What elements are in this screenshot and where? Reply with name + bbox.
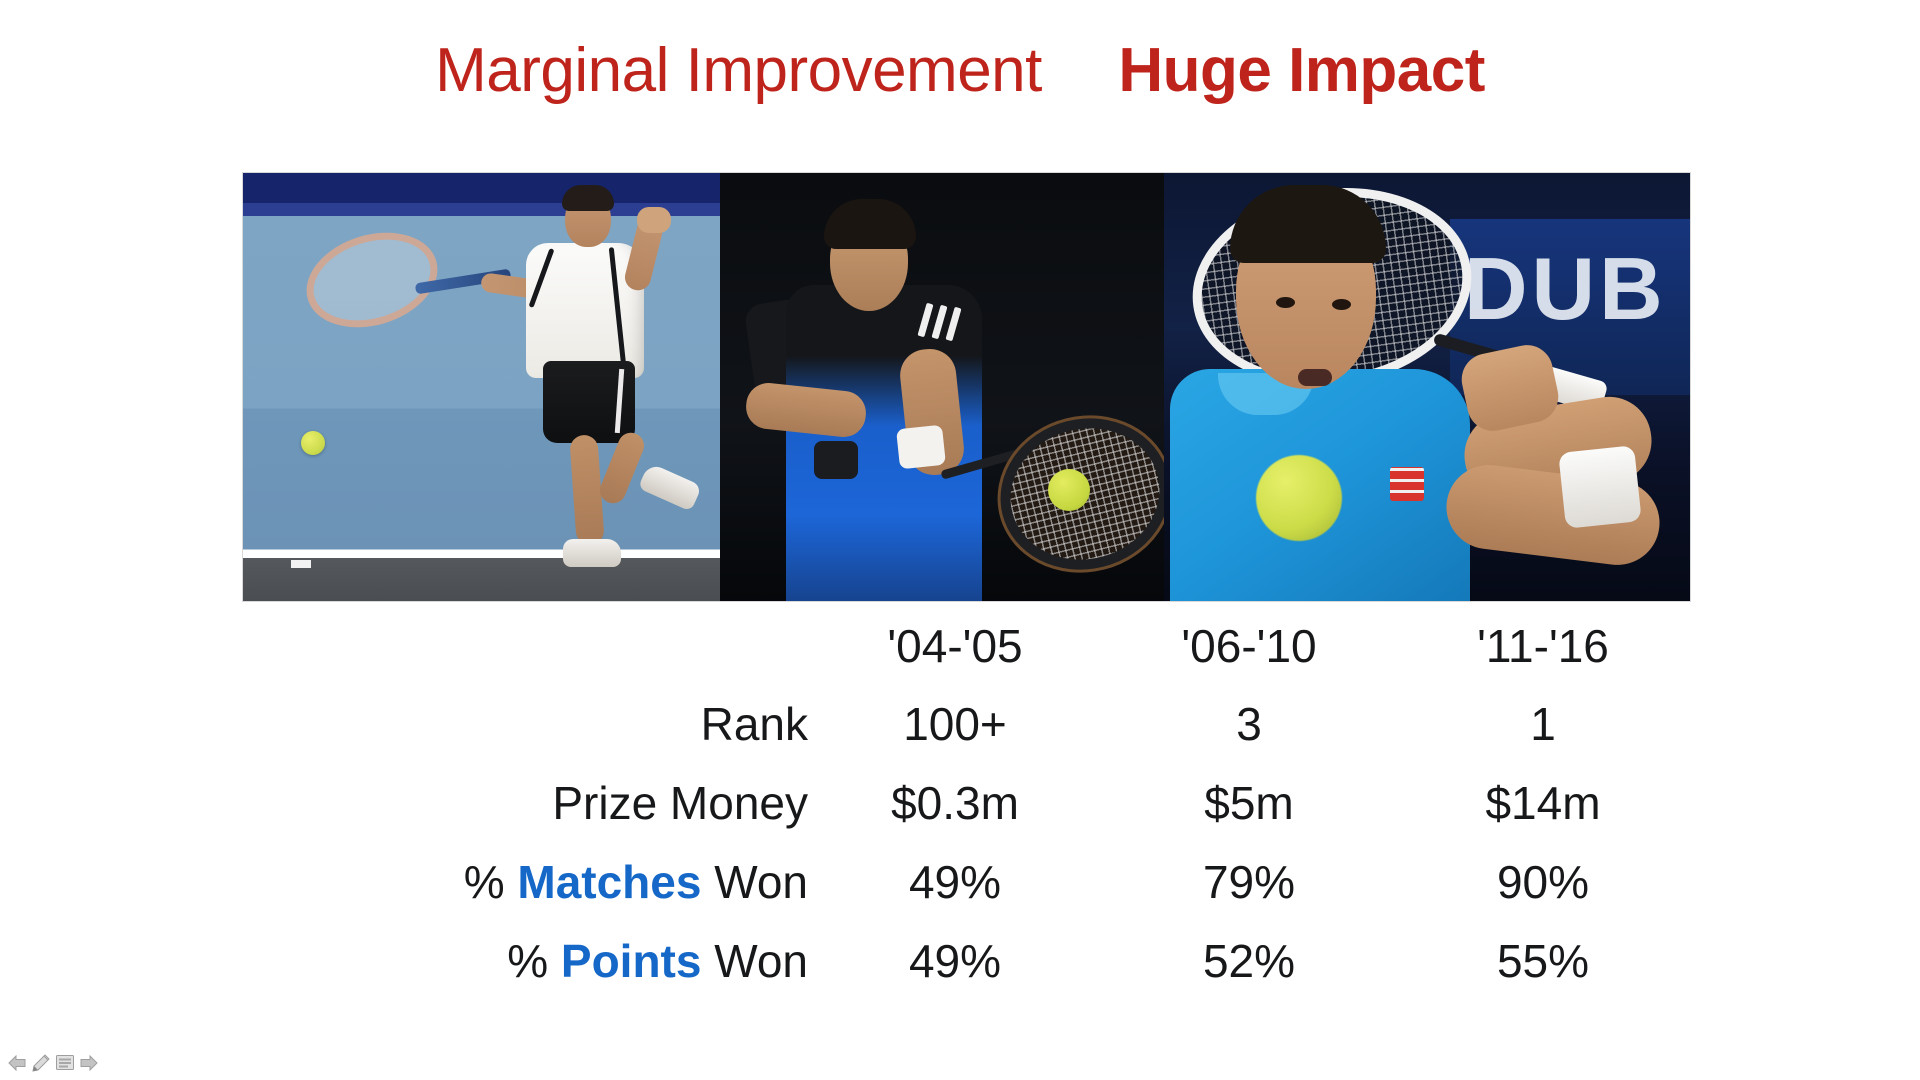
cell-rank-era2: 3 bbox=[1102, 684, 1396, 763]
row-label-suffix: Won bbox=[701, 856, 808, 908]
menu-icon[interactable] bbox=[54, 1052, 76, 1073]
row-label-points-won: % Points Won bbox=[243, 921, 808, 1000]
title-marginal-improvement: Marginal Improvement bbox=[435, 38, 1042, 103]
photo-peak-career: DUB bbox=[1164, 173, 1690, 601]
cell-matches-era1: 49% bbox=[808, 842, 1102, 921]
photo-early-career bbox=[243, 173, 720, 601]
header-era-3: '11-'16 bbox=[1396, 608, 1690, 684]
row-label-prize-money: Prize Money bbox=[243, 763, 808, 842]
player-right-wristband bbox=[896, 425, 946, 470]
banner-text: DUB bbox=[1464, 245, 1667, 333]
sponsor-logo bbox=[1390, 467, 1424, 501]
cell-points-era2: 52% bbox=[1102, 921, 1396, 1000]
player-eye-left bbox=[1276, 297, 1295, 308]
tennis-ball-icon bbox=[1048, 469, 1090, 511]
tennis-ball-icon bbox=[301, 431, 325, 455]
row-label-prefix: % bbox=[464, 856, 518, 908]
player-hair bbox=[562, 185, 614, 211]
cell-points-era1: 49% bbox=[808, 921, 1102, 1000]
header-era-2: '06-'10 bbox=[1102, 608, 1396, 684]
header-era-1: '04-'05 bbox=[808, 608, 1102, 684]
cell-rank-era3: 1 bbox=[1396, 684, 1690, 763]
previous-arrow-icon[interactable] bbox=[6, 1052, 28, 1073]
table-row: Rank 100+ 3 1 bbox=[243, 684, 1690, 763]
row-label-suffix: Won bbox=[701, 935, 808, 987]
header-blank bbox=[243, 608, 808, 684]
player-left-wristband bbox=[814, 441, 858, 479]
player-mouth bbox=[1298, 369, 1332, 386]
cell-points-era3: 55% bbox=[1396, 921, 1690, 1000]
row-label-emphasis: Matches bbox=[517, 856, 701, 908]
next-arrow-icon[interactable] bbox=[78, 1052, 100, 1073]
pen-icon[interactable] bbox=[30, 1052, 52, 1073]
player-right-hand bbox=[637, 207, 671, 233]
cell-matches-era3: 90% bbox=[1396, 842, 1690, 921]
player-eye-right bbox=[1332, 299, 1351, 310]
table-row: % Matches Won 49% 79% 90% bbox=[243, 842, 1690, 921]
row-label-suffix: Prize Money bbox=[552, 777, 808, 829]
cell-prize-era2: $5m bbox=[1102, 763, 1396, 842]
photo-strip: DUB bbox=[243, 173, 1690, 601]
player-shoe-front bbox=[563, 539, 621, 567]
court-line-marker bbox=[291, 560, 311, 568]
row-label-emphasis: Points bbox=[561, 935, 702, 987]
cell-prize-era1: $0.3m bbox=[808, 763, 1102, 842]
cell-prize-era3: $14m bbox=[1396, 763, 1690, 842]
row-label-matches-won: % Matches Won bbox=[243, 842, 808, 921]
title-huge-impact: Huge Impact bbox=[1118, 38, 1485, 103]
table-header-row: '04-'05 '06-'10 '11-'16 bbox=[243, 608, 1690, 684]
tennis-ball-icon bbox=[1256, 455, 1342, 541]
presentation-toolbar[interactable] bbox=[6, 1052, 100, 1073]
table-row: Prize Money $0.3m $5m $14m bbox=[243, 763, 1690, 842]
row-label-prefix: % bbox=[507, 935, 561, 987]
stats-table: '04-'05 '06-'10 '11-'16 Rank 100+ 3 1 Pr… bbox=[243, 608, 1690, 1000]
row-label-suffix: Rank bbox=[701, 698, 808, 750]
player-wristband bbox=[1558, 445, 1642, 529]
cell-matches-era2: 79% bbox=[1102, 842, 1396, 921]
table-row: % Points Won 49% 52% 55% bbox=[243, 921, 1690, 1000]
cell-rank-era1: 100+ bbox=[808, 684, 1102, 763]
photo-mid-career bbox=[720, 173, 1164, 601]
page-title: Marginal Improvement Huge Impact bbox=[0, 38, 1920, 103]
row-label-rank: Rank bbox=[243, 684, 808, 763]
